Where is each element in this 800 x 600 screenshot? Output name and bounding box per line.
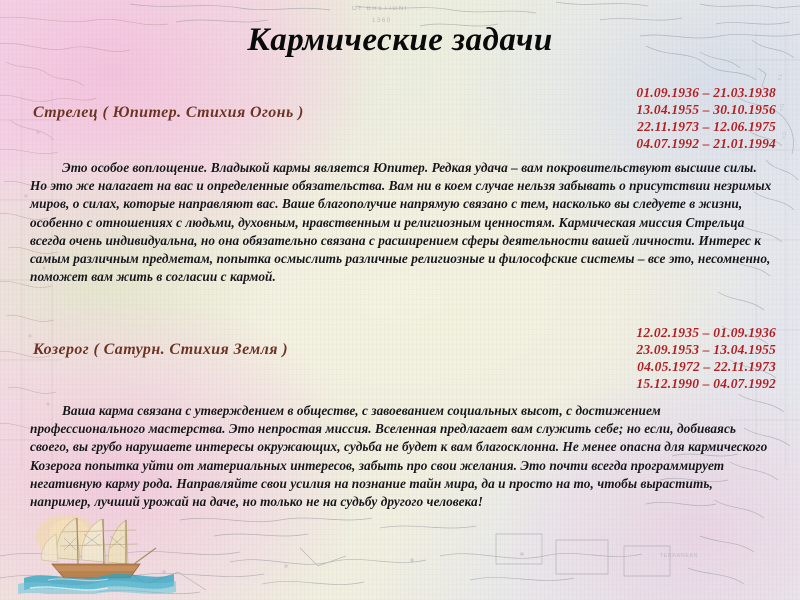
- sign-heading-capricorn: Козерог ( Сатурн. Стихия Земля ): [33, 341, 288, 359]
- slide-canvas: Tu Do Ck: [0, 0, 800, 600]
- date-range: 15.12.1990 – 04.07.1992: [636, 375, 776, 392]
- date-range: 04.07.1992 – 21.01.1994: [636, 135, 776, 152]
- date-range: 13.04.1955 – 30.10.1956: [636, 101, 776, 118]
- sign-heading-sagittarius: Стрелец ( Юпитер. Стихия Огонь ): [33, 104, 304, 122]
- date-range: 23.09.1953 – 13.04.1955: [636, 341, 776, 358]
- date-range: 01.09.1936 – 21.03.1938: [636, 84, 776, 101]
- date-range: 12.02.1935 – 01.09.1936: [636, 324, 776, 341]
- date-list-sagittarius: 01.09.1936 – 21.03.1938 13.04.1955 – 30.…: [636, 84, 776, 152]
- body-text-capricorn: Ваша карма связана с утверждением в обще…: [30, 402, 776, 511]
- date-range: 04.05.1972 – 22.11.1973: [636, 358, 776, 375]
- date-range: 22.11.1973 – 12.06.1975: [636, 118, 776, 135]
- date-list-capricorn: 12.02.1935 – 01.09.1936 23.09.1953 – 13.…: [636, 324, 776, 392]
- body-text-sagittarius: Это особое воплощение. Владыкой кармы яв…: [30, 159, 776, 286]
- page-title: Кармические задачи: [0, 22, 800, 58]
